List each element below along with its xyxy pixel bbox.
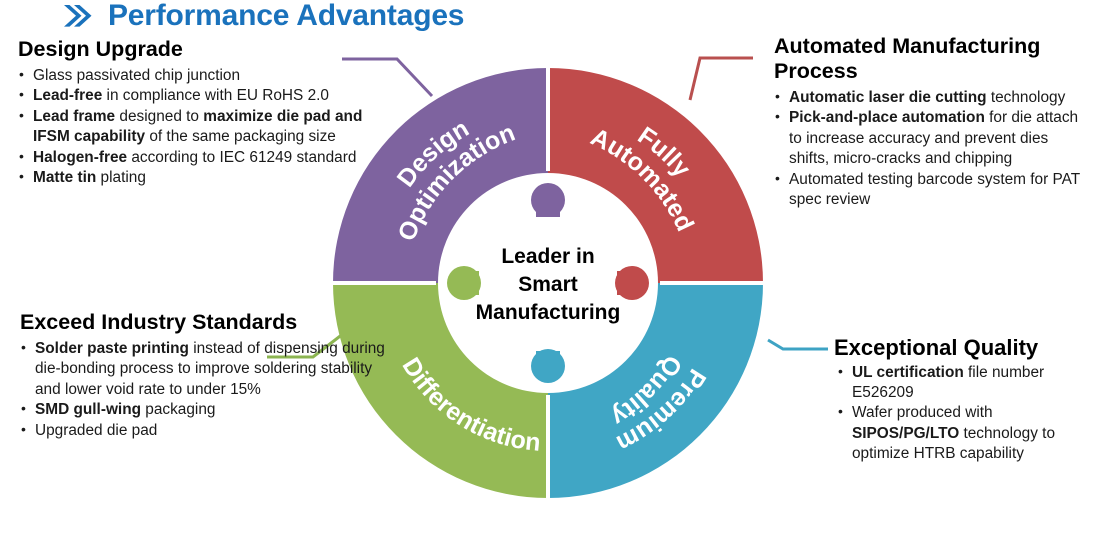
bullet-text-accent: Halogen-free bbox=[33, 149, 127, 166]
puzzle-knob-left bbox=[447, 266, 481, 300]
bullet-item: Glass passivated chip junction bbox=[18, 66, 398, 86]
bullet-text: technology bbox=[987, 89, 1066, 106]
puzzle-knob-bottom bbox=[531, 349, 565, 383]
double-chevron-right-icon bbox=[62, 2, 96, 30]
bullet-text-accent: Lead-free bbox=[33, 87, 102, 104]
bullet-text: Glass passivated chip junction bbox=[33, 67, 240, 84]
bullet-item: UL certification file number E526209 bbox=[834, 363, 1092, 404]
bullet-item: Automated testing barcode system for PAT… bbox=[774, 170, 1092, 211]
bullet-text-accent: Pick-and-place automation bbox=[789, 109, 985, 126]
bullet-text: packaging bbox=[141, 401, 215, 418]
bullet-text-accent: SMD gull-wing bbox=[35, 401, 141, 418]
section-automated-manufacturing: Automated Manufacturing Process Automati… bbox=[774, 34, 1092, 211]
heading-exceed-industry-standards: Exceed Industry Standards bbox=[20, 310, 392, 335]
bullet-text: in compliance with EU RoHS 2.0 bbox=[102, 87, 329, 104]
bullet-item: Automatic laser die cutting technology bbox=[774, 88, 1092, 108]
bullet-list-automated-manufacturing: Automatic laser die cutting technologyPi… bbox=[774, 88, 1092, 211]
bullet-item: Lead frame designed to maximize die pad … bbox=[18, 107, 398, 148]
bullet-text-accent: Lead frame bbox=[33, 108, 115, 125]
puzzle-knob-top bbox=[531, 183, 565, 217]
heading-automated-manufacturing: Automated Manufacturing Process bbox=[774, 34, 1092, 84]
bullet-text: designed to bbox=[115, 108, 203, 125]
center-text-line-1: Leader in bbox=[501, 245, 594, 268]
bullet-list-exceed-industry-standards: Solder paste printing instead of dispens… bbox=[20, 339, 392, 441]
bullet-item: Solder paste printing instead of dispens… bbox=[20, 339, 392, 400]
page-header: Performance Advantages bbox=[62, 1, 464, 31]
section-exceptional-quality: Exceptional Quality UL certification fil… bbox=[834, 335, 1092, 465]
bullet-list-design-upgrade: Glass passivated chip junctionLead-free … bbox=[18, 66, 398, 189]
bullet-item: Pick-and-place automation for die attach… bbox=[774, 108, 1092, 169]
bullet-text: according to IEC 61249 standard bbox=[127, 149, 356, 166]
bullet-item: Wafer produced with SIPOS/PG/LTO technol… bbox=[834, 403, 1092, 464]
bullet-text-accent: UL certification bbox=[852, 364, 964, 381]
heading-design-upgrade: Design Upgrade bbox=[18, 37, 398, 62]
center-text-line-2: Smart bbox=[518, 273, 578, 296]
bullet-text: Automated testing barcode system for PAT… bbox=[789, 171, 1080, 208]
puzzle-knob-right bbox=[615, 266, 649, 300]
bullet-text: of the same packaging size bbox=[145, 128, 336, 145]
bullet-list-exceptional-quality: UL certification file number E526209Wafe… bbox=[834, 363, 1092, 465]
bullet-text-accent: SIPOS/PG/LTO bbox=[852, 425, 959, 442]
connector-quality bbox=[768, 340, 828, 349]
center-text-line-3: Manufacturing bbox=[476, 301, 621, 324]
bullet-text-accent: Automatic laser die cutting bbox=[789, 89, 987, 106]
bullet-item: Halogen-free according to IEC 61249 stan… bbox=[18, 148, 398, 168]
bullet-text: Wafer produced with bbox=[852, 404, 993, 421]
slide-canvas: Performance Advantages bbox=[0, 0, 1094, 536]
bullet-item: Lead-free in compliance with EU RoHS 2.0 bbox=[18, 86, 398, 106]
section-exceed-industry-standards: Exceed Industry Standards Solder paste p… bbox=[20, 310, 392, 441]
section-design-upgrade: Design Upgrade Glass passivated chip jun… bbox=[18, 37, 398, 189]
bullet-text-accent: Solder paste printing bbox=[35, 340, 189, 357]
bullet-text: plating bbox=[96, 169, 146, 186]
heading-exceptional-quality: Exceptional Quality bbox=[834, 335, 1092, 361]
bullet-text: Upgraded die pad bbox=[35, 422, 157, 439]
bullet-item: Matte tin plating bbox=[18, 168, 398, 188]
bullet-text-accent: Matte tin bbox=[33, 169, 96, 186]
bullet-item: Upgraded die pad bbox=[20, 421, 392, 441]
page-title: Performance Advantages bbox=[108, 1, 464, 31]
bullet-item: SMD gull-wing packaging bbox=[20, 400, 392, 420]
